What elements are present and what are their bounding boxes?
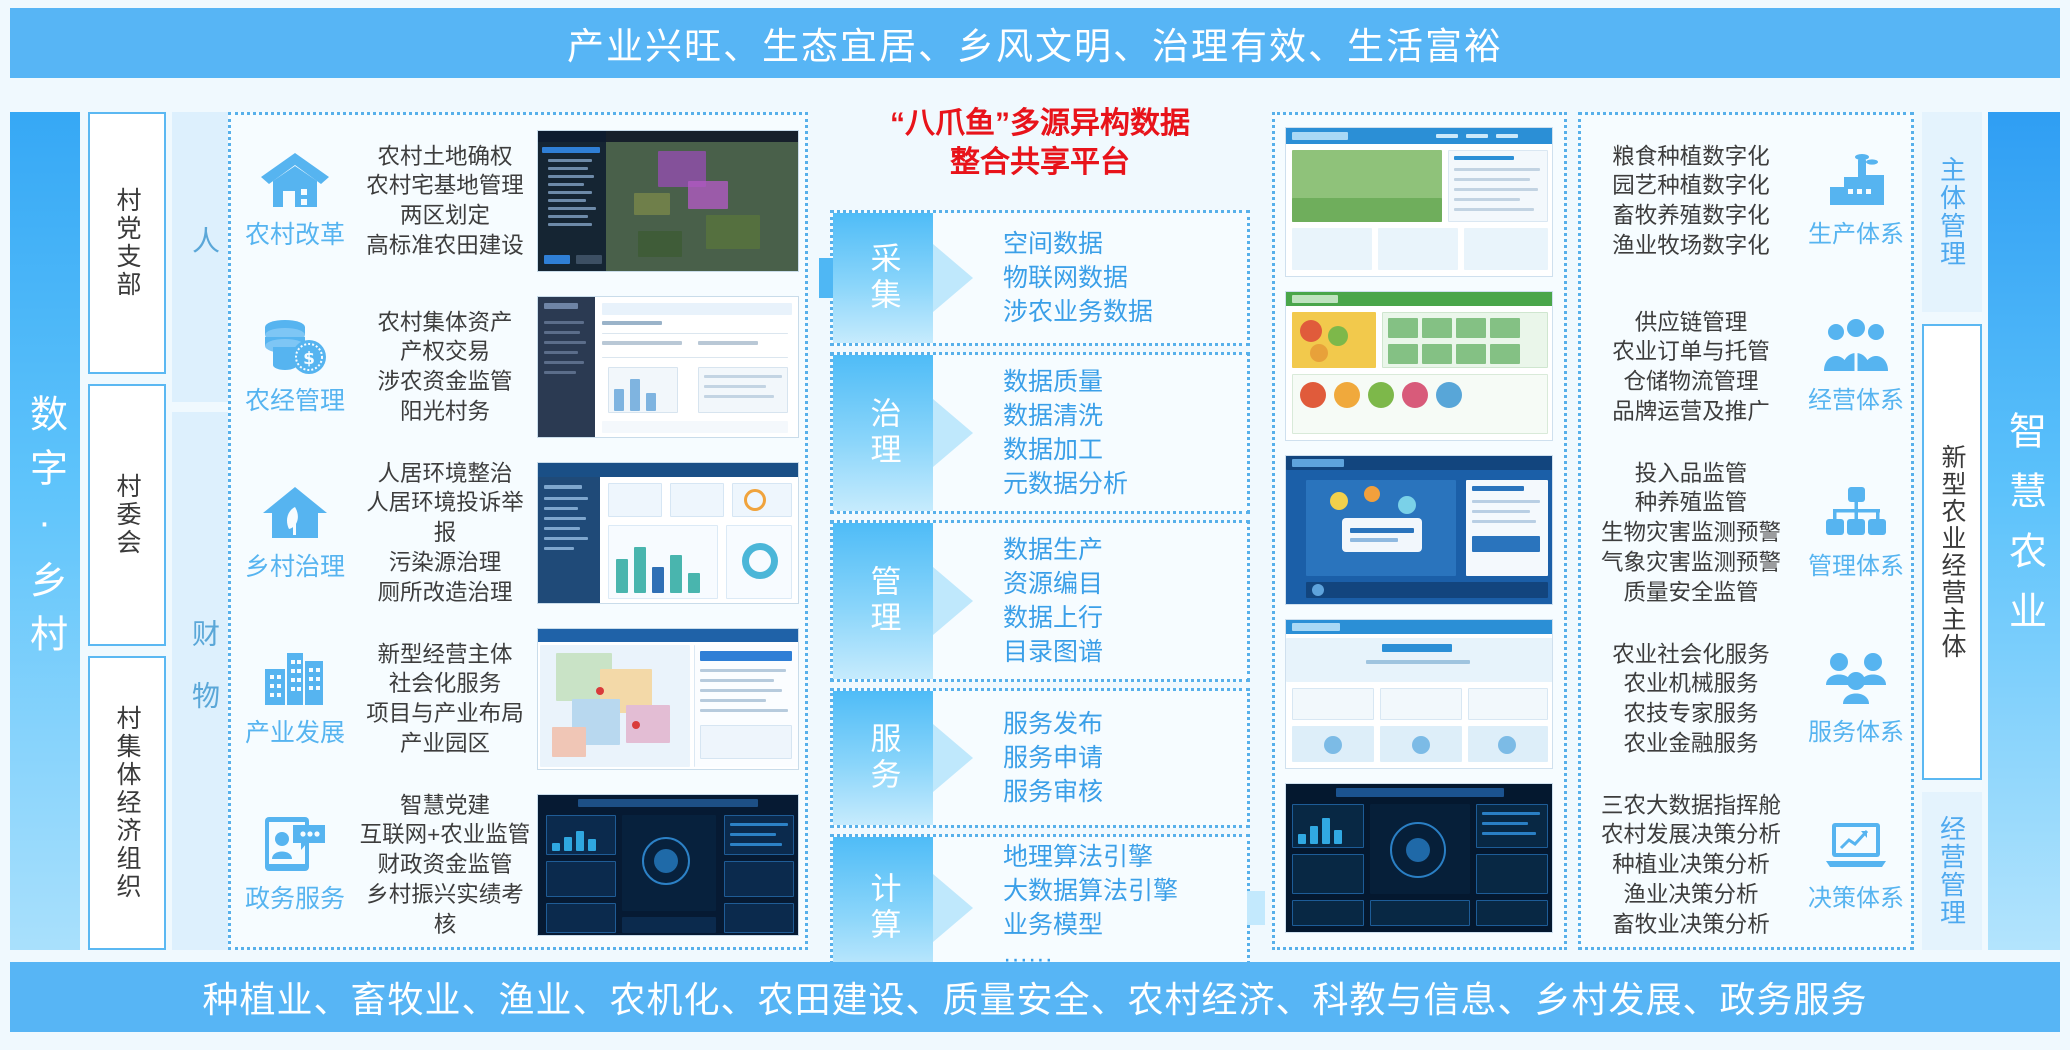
feature-item: 农村土地确权 bbox=[359, 142, 531, 172]
resource-label: 财物 bbox=[184, 619, 224, 743]
feature-icon-wrap: 政务服务 bbox=[231, 815, 359, 915]
service-portal-screenshot[interactable] bbox=[1285, 619, 1553, 769]
platform-stage-collect[interactable]: 采集 空间数据 物联网数据 涉农业务数据 bbox=[830, 210, 1250, 346]
system-item: 仓储物流管理 bbox=[1581, 367, 1801, 397]
platform-title-line1: “八爪鱼”多源异构数据 bbox=[830, 104, 1250, 143]
feature-item: 新型经营主体 bbox=[359, 640, 531, 670]
feature-items: 人居环境整治 人居环境投诉举报 污染源治理 厕所改造治理 bbox=[359, 459, 537, 607]
right-label-new-ag-entities[interactable]: 新型农业经营主体 bbox=[1922, 324, 1982, 780]
system-row-production[interactable]: 粮食种植数字化 园艺种植数字化 畜牧养殖数字化 渔业牧场数字化 生产体系 bbox=[1581, 121, 1911, 281]
system-icon-wrap: 管理体系 bbox=[1801, 485, 1911, 581]
people-group-icon bbox=[1822, 319, 1890, 375]
feature-icon-wrap: 乡村治理 bbox=[231, 483, 359, 583]
stage-name: 管理 bbox=[861, 565, 906, 637]
system-items: 供应链管理 农业订单与托管 仓储物流管理 品牌运营及推广 bbox=[1581, 308, 1801, 427]
stage-item: 数据质量 bbox=[1003, 365, 1247, 399]
stage-tab: 服务 bbox=[833, 691, 933, 825]
stage-connector-nub bbox=[819, 258, 833, 298]
stage-tab: 采集 bbox=[833, 213, 933, 343]
system-label: 决策体系 bbox=[1808, 878, 1904, 913]
svg-text:$: $ bbox=[303, 349, 315, 369]
platform-stage-compute[interactable]: 计算 地理算法引擎 大数据算法引擎 业务模型 ······ bbox=[830, 834, 1250, 982]
feature-icon-wrap: $ 农经管理 bbox=[231, 317, 359, 417]
gis-map-screenshot[interactable] bbox=[537, 628, 799, 770]
right-rail-label: 智慧农业 bbox=[1997, 411, 2052, 651]
feature-icon-wrap: 产业发展 bbox=[231, 649, 359, 749]
feature-item: 农村集体资产 bbox=[359, 308, 531, 338]
stage-item: 数据清洗 bbox=[1003, 399, 1247, 433]
system-item: 农村发展决策分析 bbox=[1581, 820, 1801, 850]
stage-tab: 管理 bbox=[833, 523, 933, 679]
stage-item: 数据上行 bbox=[1003, 601, 1247, 635]
system-items: 投入品监管 种养殖监管 生物灾害监测预警 气象灾害监测预警 质量安全监管 bbox=[1581, 459, 1801, 607]
stage-item: 大数据算法引擎 bbox=[1003, 874, 1247, 908]
right-label-text: 新型农业经营主体 bbox=[1934, 444, 1970, 660]
resource-label: 人 bbox=[184, 226, 224, 288]
three-users-icon bbox=[1822, 651, 1890, 707]
feature-item: 人居环境投诉举报 bbox=[359, 488, 531, 547]
feature-item: 污染源治理 bbox=[359, 548, 531, 578]
feature-label: 乡村治理 bbox=[245, 547, 345, 583]
left-rail-digital-village: 数字·乡村 bbox=[10, 112, 80, 950]
system-icon-wrap: 服务体系 bbox=[1801, 651, 1911, 747]
system-label: 管理体系 bbox=[1808, 546, 1904, 581]
dark-bigdata-screenshot[interactable] bbox=[537, 794, 799, 936]
system-item: 粮食种植数字化 bbox=[1581, 142, 1801, 172]
bottom-banner-text: 种植业、畜牧业、渔业、农机化、农田建设、质量安全、农村经济、科教与信息、乡村发展… bbox=[202, 971, 1867, 1023]
satellite-map-screenshot[interactable] bbox=[537, 130, 799, 272]
stage-tab: 计算 bbox=[833, 837, 933, 979]
stage-items: 数据生产 资源编目 数据上行 目录图谱 bbox=[933, 533, 1247, 669]
stage-item: 涉农业务数据 bbox=[1003, 295, 1247, 329]
system-items: 三农大数据指挥舱 农村发展决策分析 种植业决策分析 渔业决策分析 畜牧业决策分析 bbox=[1581, 791, 1801, 939]
feature-item: 项目与产业布局 bbox=[359, 699, 531, 729]
feature-label: 产业发展 bbox=[245, 713, 345, 749]
feature-items: 新型经营主体 社会化服务 项目与产业布局 产业园区 bbox=[359, 640, 537, 759]
org-box-label: 村党支部 bbox=[109, 187, 145, 299]
stage-item: 服务申请 bbox=[1003, 741, 1247, 775]
top-banner: 产业兴旺、生态宜居、乡风文明、治理有效、生活富裕 bbox=[10, 8, 2060, 78]
stage-items: 空间数据 物联网数据 涉农业务数据 bbox=[933, 227, 1247, 329]
stage-connector-nub-right bbox=[1247, 891, 1265, 925]
feature-item: 农村宅基地管理 bbox=[359, 171, 531, 201]
system-item: 农业金融服务 bbox=[1581, 729, 1801, 759]
feature-item: 财政资金监管 bbox=[359, 850, 531, 880]
stage-item: 资源编目 bbox=[1003, 567, 1247, 601]
feature-row-rural-reform[interactable]: 农村改革 农村土地确权 农村宅基地管理 两区划定 高标准农田建设 bbox=[231, 121, 805, 281]
org-box-collective-economy[interactable]: 村集体经济组织 bbox=[88, 656, 166, 950]
bigdata-command-screenshot[interactable] bbox=[1285, 783, 1553, 933]
platform-title: “八爪鱼”多源异构数据 整合共享平台 bbox=[830, 104, 1250, 182]
system-item: 农业订单与托管 bbox=[1581, 337, 1801, 367]
laptop-chart-icon bbox=[1822, 817, 1890, 873]
factory-icon bbox=[1822, 153, 1890, 209]
right-label-entity-management: 主体管理 bbox=[1922, 112, 1982, 312]
system-icon-wrap: 决策体系 bbox=[1801, 817, 1911, 913]
system-row-service[interactable]: 农业社会化服务 农业机械服务 农技专家服务 农业金融服务 服务体系 bbox=[1581, 619, 1911, 779]
stage-tab: 治理 bbox=[833, 355, 933, 511]
system-icon-wrap: 经营体系 bbox=[1801, 319, 1911, 415]
feature-label: 农村改革 bbox=[245, 215, 345, 251]
buildings-icon bbox=[259, 649, 331, 707]
right-label-column: 主体管理 新型农业经营主体 经营管理 bbox=[1922, 112, 1982, 950]
stage-item: 元数据分析 bbox=[1003, 467, 1247, 501]
system-item: 投入品监管 bbox=[1581, 459, 1801, 489]
system-row-management[interactable]: 投入品监管 种养殖监管 生物灾害监测预警 气象灾害监测预警 质量安全监管 bbox=[1581, 453, 1911, 613]
feature-label: 政务服务 bbox=[245, 879, 345, 915]
feature-row-rural-economy[interactable]: $ 农经管理 农村集体资产 产权交易 涉农资金监管 阳光村务 bbox=[231, 287, 805, 447]
feature-row-village-governance[interactable]: 乡村治理 人居环境整治 人居环境投诉举报 污染源治理 厕所改造治理 bbox=[231, 453, 805, 613]
system-item: 渔业牧场数字化 bbox=[1581, 231, 1801, 261]
feature-item: 产权交易 bbox=[359, 337, 531, 367]
system-item: 畜牧业决策分析 bbox=[1581, 910, 1801, 940]
system-row-decision[interactable]: 三农大数据指挥舱 农村发展决策分析 种植业决策分析 渔业决策分析 畜牧业决策分析… bbox=[1581, 785, 1911, 945]
system-item: 供应链管理 bbox=[1581, 308, 1801, 338]
resource-people: 人 bbox=[172, 112, 236, 402]
feature-item: 两区划定 bbox=[359, 201, 531, 231]
stage-name: 治理 bbox=[861, 397, 906, 469]
org-chart-icon bbox=[1822, 485, 1890, 541]
system-icon-wrap: 生产体系 bbox=[1801, 153, 1911, 249]
diagram-canvas: 产业兴旺、生态宜居、乡风文明、治理有效、生活富裕 数字·乡村 村党支部 村委会 … bbox=[0, 0, 2070, 1050]
dashboard-chart-screenshot[interactable] bbox=[537, 462, 799, 604]
right-label-text: 主体管理 bbox=[1934, 156, 1971, 268]
platform-stage-govern[interactable]: 治理 数据质量 数据清洗 数据加工 元数据分析 bbox=[830, 352, 1250, 514]
feature-item: 社会化服务 bbox=[359, 669, 531, 699]
org-column: 村党支部 村委会 村集体经济组织 bbox=[88, 112, 166, 950]
right-label-business-management: 经营管理 bbox=[1922, 792, 1982, 950]
system-items: 农业社会化服务 农业机械服务 农技专家服务 农业金融服务 bbox=[1581, 640, 1801, 759]
feature-label: 农经管理 bbox=[245, 381, 345, 417]
system-item: 种养殖监管 bbox=[1581, 488, 1801, 518]
feature-items: 农村土地确权 农村宅基地管理 两区划定 高标准农田建设 bbox=[359, 142, 537, 261]
feature-item: 智慧党建 bbox=[359, 791, 531, 821]
feature-row-industry-development[interactable]: 产业发展 新型经营主体 社会化服务 项目与产业布局 产业园区 bbox=[231, 619, 805, 779]
stage-item: 地理算法引擎 bbox=[1003, 840, 1247, 874]
platform-title-line2: 整合共享平台 bbox=[830, 143, 1250, 182]
system-item: 质量安全监管 bbox=[1581, 578, 1801, 608]
stage-item: 空间数据 bbox=[1003, 227, 1247, 261]
coins-dollar-icon: $ bbox=[259, 317, 331, 375]
bottom-banner: 种植业、畜牧业、渔业、农机化、农田建设、质量安全、农村经济、科教与信息、乡村发展… bbox=[10, 962, 2060, 1032]
agriculture-portal-screenshot[interactable] bbox=[1285, 127, 1553, 277]
stage-item: 物联网数据 bbox=[1003, 261, 1247, 295]
feature-item: 阳光村务 bbox=[359, 397, 531, 427]
stage-name: 采集 bbox=[861, 242, 906, 314]
feature-item: 高标准农田建设 bbox=[359, 231, 531, 261]
tablet-user-chat-icon bbox=[259, 815, 331, 873]
stage-items: 数据质量 数据清洗 数据加工 元数据分析 bbox=[933, 365, 1247, 501]
system-item: 生物灾害监测预警 bbox=[1581, 518, 1801, 548]
system-items: 粮食种植数字化 园艺种植数字化 畜牧养殖数字化 渔业牧场数字化 bbox=[1581, 142, 1801, 261]
feature-row-government-service[interactable]: 政务服务 智慧党建 互联网+农业监管 财政资金监管 乡村振兴实绩考核 bbox=[231, 785, 805, 945]
feature-item: 人居环境整治 bbox=[359, 459, 531, 489]
system-row-operation[interactable]: 供应链管理 农业订单与托管 仓储物流管理 品牌运营及推广 经营体系 bbox=[1581, 287, 1911, 447]
resource-column: 人 财物 bbox=[172, 112, 236, 950]
system-item: 园艺种植数字化 bbox=[1581, 171, 1801, 201]
system-item: 种植业决策分析 bbox=[1581, 850, 1801, 880]
system-item: 三农大数据指挥舱 bbox=[1581, 791, 1801, 821]
data-table-screenshot[interactable] bbox=[537, 296, 799, 438]
system-item: 品牌运营及推广 bbox=[1581, 397, 1801, 427]
system-item: 农技专家服务 bbox=[1581, 699, 1801, 729]
feature-item: 涉农资金监管 bbox=[359, 367, 531, 397]
platform-stage-manage[interactable]: 管理 数据生产 资源编目 数据上行 目录图谱 bbox=[830, 520, 1250, 682]
feature-panel: 农村改革 农村土地确权 农村宅基地管理 两区划定 高标准农田建设 bbox=[228, 112, 808, 950]
system-label: 生产体系 bbox=[1808, 214, 1904, 249]
stage-item: 数据加工 bbox=[1003, 433, 1247, 467]
system-item: 渔业决策分析 bbox=[1581, 880, 1801, 910]
platform-stage-service[interactable]: 服务 服务发布 服务申请 服务审核 bbox=[830, 688, 1250, 828]
produce-ecommerce-screenshot[interactable] bbox=[1285, 291, 1553, 441]
feature-item: 乡村振兴实绩考核 bbox=[359, 880, 531, 939]
stage-item: 服务发布 bbox=[1003, 707, 1247, 741]
right-rail-smart-agriculture: 智慧农业 bbox=[1988, 112, 2060, 950]
org-box-party-branch[interactable]: 村党支部 bbox=[88, 112, 166, 374]
org-box-label: 村集体经济组织 bbox=[109, 705, 145, 901]
home-leaf-icon bbox=[259, 483, 331, 541]
system-label: 服务体系 bbox=[1808, 712, 1904, 747]
org-box-village-committee[interactable]: 村委会 bbox=[88, 384, 166, 646]
stage-item: 数据生产 bbox=[1003, 533, 1247, 567]
house-icon bbox=[259, 151, 331, 209]
top-banner-text: 产业兴旺、生态宜居、乡风文明、治理有效、生活富裕 bbox=[567, 16, 1503, 70]
feature-item: 互联网+农业监管 bbox=[359, 820, 531, 850]
org-box-label: 村委会 bbox=[109, 473, 145, 557]
feature-items: 智慧党建 互联网+农业监管 财政资金监管 乡村振兴实绩考核 bbox=[359, 791, 537, 939]
system-item: 气象灾害监测预警 bbox=[1581, 548, 1801, 578]
system-item: 畜牧养殖数字化 bbox=[1581, 201, 1801, 231]
platform-column: “八爪鱼”多源异构数据 整合共享平台 采集 空间数据 物联网数据 涉农业务数据 … bbox=[830, 112, 1250, 950]
showcase-panel bbox=[1272, 112, 1567, 950]
stage-item: 业务模型 bbox=[1003, 908, 1247, 942]
feature-item: 产业园区 bbox=[359, 729, 531, 759]
system-item: 农业机械服务 bbox=[1581, 669, 1801, 699]
stage-items: 服务发布 服务申请 服务审核 bbox=[933, 707, 1247, 809]
stage-item: 目录图谱 bbox=[1003, 635, 1247, 669]
stage-items: 地理算法引擎 大数据算法引擎 业务模型 ······ bbox=[933, 840, 1247, 976]
left-rail-label: 数字·乡村 bbox=[18, 394, 73, 668]
right-label-text: 经营管理 bbox=[1934, 815, 1971, 927]
resource-finance-assets: 财物 bbox=[172, 412, 236, 950]
systems-panel: 粮食种植数字化 园艺种植数字化 畜牧养殖数字化 渔业牧场数字化 生产体系 bbox=[1578, 112, 1914, 950]
stage-name: 计算 bbox=[861, 872, 906, 944]
feature-item: 厕所改造治理 bbox=[359, 578, 531, 608]
feature-icon-wrap: 农村改革 bbox=[231, 151, 359, 251]
stage-item: 服务审核 bbox=[1003, 775, 1247, 809]
stage-name: 服务 bbox=[861, 722, 906, 794]
feature-items: 农村集体资产 产权交易 涉农资金监管 阳光村务 bbox=[359, 308, 537, 427]
system-label: 经营体系 bbox=[1808, 380, 1904, 415]
food-safety-platform-screenshot[interactable] bbox=[1285, 455, 1553, 605]
system-item: 农业社会化服务 bbox=[1581, 640, 1801, 670]
